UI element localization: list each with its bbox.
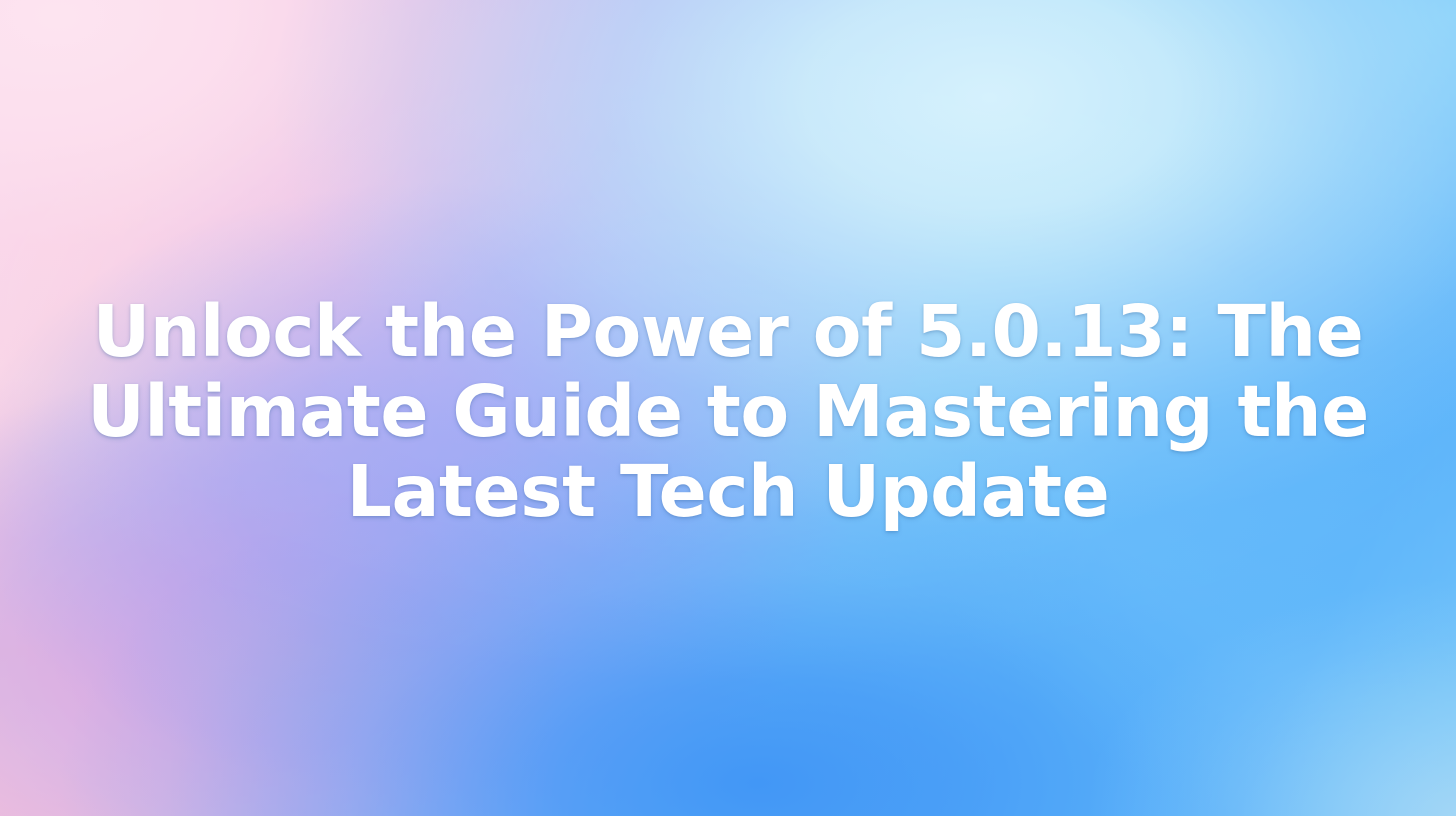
hero-content: Unlock the Power of 5.0.13: The Ultimate…	[0, 0, 1456, 816]
hero-title: Unlock the Power of 5.0.13: The Ultimate…	[24, 292, 1432, 532]
hero-banner: Unlock the Power of 5.0.13: The Ultimate…	[0, 0, 1456, 816]
